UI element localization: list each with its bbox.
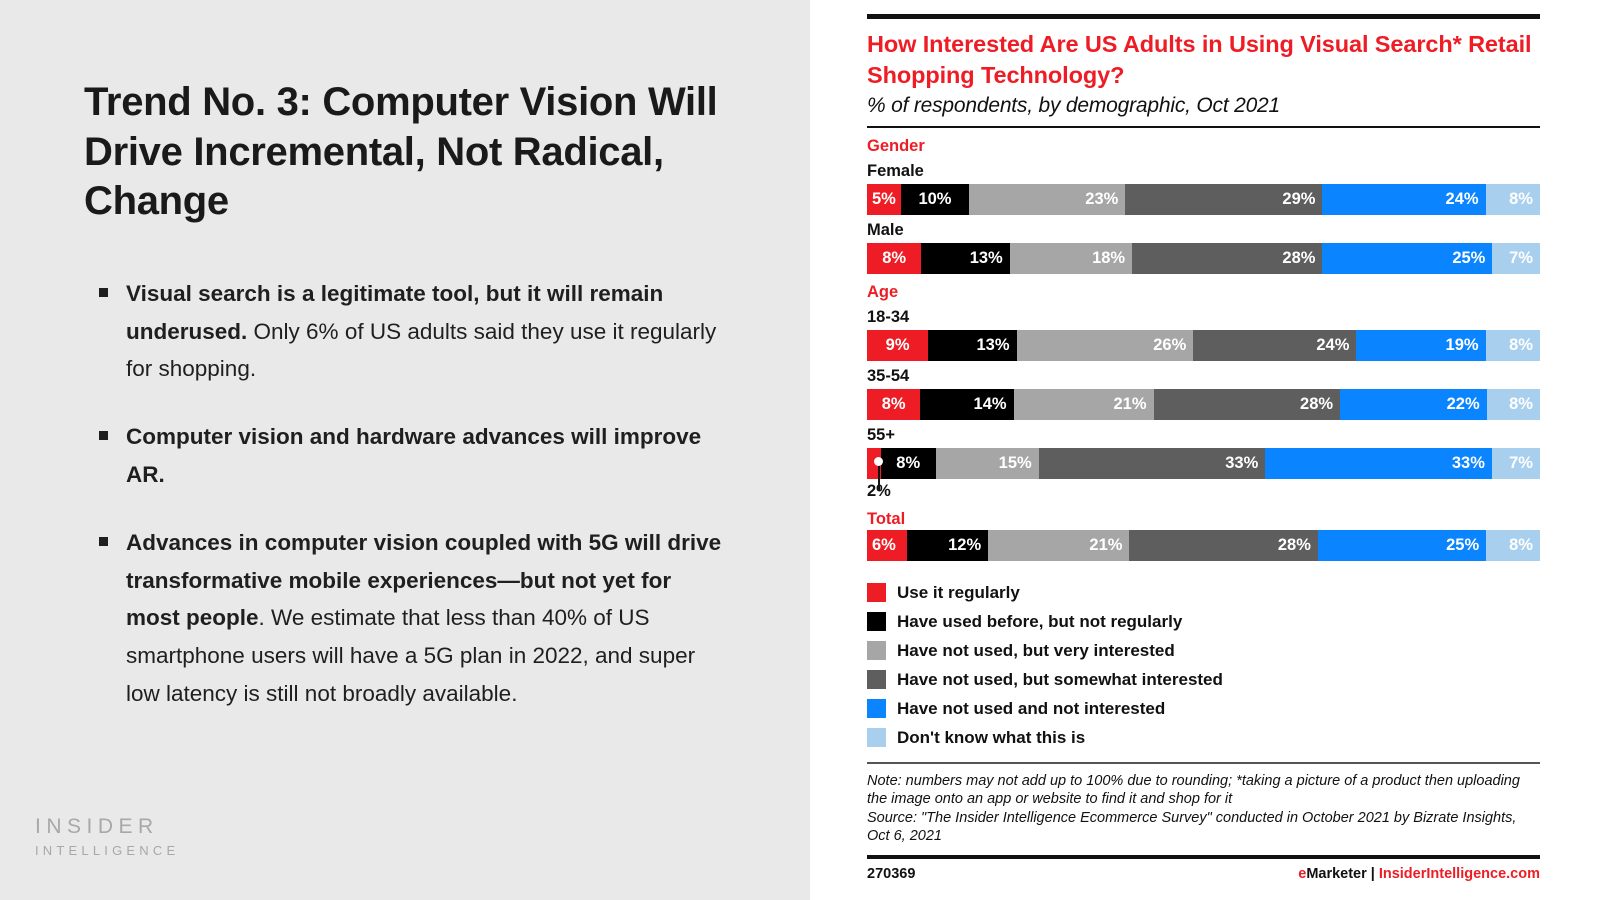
bar-segment: 5% xyxy=(867,184,901,215)
bar-segment: 6% xyxy=(867,530,907,561)
legend-color-swatch xyxy=(867,670,886,689)
legend-item[interactable]: Have not used and not interested xyxy=(867,694,1540,723)
bar-segment: 15% xyxy=(936,448,1039,479)
bar-segment-value: 28% xyxy=(1278,536,1311,555)
legend-item[interactable]: Use it regularly xyxy=(867,578,1540,607)
bar-row-wrapper: 6%12%21%28%25%8% xyxy=(867,530,1540,561)
bar-segment: 21% xyxy=(988,530,1129,561)
bar-row-wrapper: 9%13%26%24%19%8% xyxy=(867,330,1540,361)
bullet-emphasis-text: Computer vision and hardware advances wi… xyxy=(126,424,701,487)
legend-color-swatch xyxy=(867,699,886,718)
bar-segment: 7% xyxy=(1492,243,1540,274)
chart-panel: How Interested Are US Adults in Using Vi… xyxy=(810,0,1600,900)
bar-segment-value: 24% xyxy=(1446,190,1479,209)
chart-notes: Note: numbers may not add up to 100% due… xyxy=(867,772,1540,846)
bar-segment: 26% xyxy=(1017,330,1194,361)
chart-category-label: 18-34 xyxy=(867,308,1540,327)
bar-segment: 8% xyxy=(1486,330,1540,361)
bar-segment-value: 9% xyxy=(886,336,910,355)
chart-footer: 270369 eMarketer|InsiderIntelligence.com xyxy=(867,866,1540,882)
bar-segment-value: 22% xyxy=(1447,395,1480,414)
bar-segment-value: 29% xyxy=(1282,190,1315,209)
bar-segment-value: 18% xyxy=(1092,249,1125,268)
legend-item[interactable]: Don't know what this is xyxy=(867,723,1540,752)
chart-top-rule xyxy=(867,14,1540,19)
bar-row-wrapper: 8%13%18%28%25%7% xyxy=(867,243,1540,274)
chart-category-label: Female xyxy=(867,162,1540,181)
bar-segment: 8% xyxy=(1486,184,1540,215)
chart-category-label: 35-54 xyxy=(867,367,1540,386)
note-text: Note: numbers may not add up to 100% due… xyxy=(867,773,1520,808)
bar-segment-value: 26% xyxy=(1153,336,1186,355)
bar-segment: 14% xyxy=(920,389,1013,420)
bullet-item: Advances in computer vision coupled with… xyxy=(126,524,724,713)
chart-header-rule xyxy=(867,126,1540,128)
chart-subtitle: % of respondents, by demographic, Oct 20… xyxy=(867,94,1540,118)
legend-label: Don't know what this is xyxy=(897,728,1085,748)
chart-category-label: Male xyxy=(867,221,1540,240)
bar-segment-value: 8% xyxy=(882,249,906,268)
brand-attribution: eMarketer|InsiderIntelligence.com xyxy=(1298,866,1540,882)
bar-segment-value: 8% xyxy=(1509,190,1533,209)
bar-segment-value: 12% xyxy=(948,536,981,555)
legend-color-swatch xyxy=(867,583,886,602)
chart-group-label: Total xyxy=(867,510,1540,529)
bar-segment-value: 19% xyxy=(1446,336,1479,355)
legend-item[interactable]: Have not used, but very interested xyxy=(867,636,1540,665)
legend-color-swatch xyxy=(867,728,886,747)
bar-segment: 9% xyxy=(867,330,928,361)
bullet-square-icon xyxy=(99,431,108,440)
page-title: Trend No. 3: Computer Vision Will Drive … xyxy=(84,78,730,227)
bar-segment: 33% xyxy=(1039,448,1266,479)
bar-segment-value: 33% xyxy=(1452,454,1485,473)
chart-bottom-rule xyxy=(867,855,1540,859)
bar-segment-value: 6% xyxy=(872,536,896,555)
bar-segment-value: 28% xyxy=(1300,395,1333,414)
brand-website-link[interactable]: InsiderIntelligence.com xyxy=(1379,866,1540,882)
bar-segment-value: 8% xyxy=(1509,395,1533,414)
left-content-panel: Trend No. 3: Computer Vision Will Drive … xyxy=(0,0,810,900)
legend-label: Have used before, but not regularly xyxy=(897,612,1182,632)
bar-row-wrapper: 2%8%15%33%33%7%2% xyxy=(867,448,1540,501)
bar-segment-value: 25% xyxy=(1446,536,1479,555)
bar-segment: 13% xyxy=(921,243,1009,274)
insider-intelligence-logo: INSIDER INTELLIGENCE xyxy=(35,815,179,858)
bullet-item: Computer vision and hardware advances wi… xyxy=(126,418,724,494)
bullet-square-icon xyxy=(99,537,108,546)
bar-segment: 29% xyxy=(1125,184,1322,215)
bar-segment: 12% xyxy=(907,530,988,561)
bar-segment: 33% xyxy=(1265,448,1492,479)
stacked-bar-row: 5%10%23%29%24%8% xyxy=(867,184,1540,215)
bar-segment: 25% xyxy=(1318,530,1486,561)
bar-segment-value: 28% xyxy=(1282,249,1315,268)
bar-segment-value: 13% xyxy=(970,249,1003,268)
bar-segment-value: 23% xyxy=(1085,190,1118,209)
bullet-item: Visual search is a legitimate tool, but … xyxy=(126,275,724,388)
bar-segment-value: 8% xyxy=(896,454,920,473)
notes-divider-rule xyxy=(867,762,1540,764)
bullet-square-icon xyxy=(99,288,108,297)
bar-segment: 8% xyxy=(881,448,936,479)
bar-segment: 8% xyxy=(867,243,921,274)
bar-segment: 28% xyxy=(1129,530,1317,561)
chart-group-label: Age xyxy=(867,283,1540,302)
chart-legend: Use it regularlyHave used before, but no… xyxy=(867,578,1540,752)
bar-segment: 25% xyxy=(1322,243,1492,274)
chart-category-label: 55+ xyxy=(867,426,1540,445)
bar-segment-value: 15% xyxy=(999,454,1032,473)
slide-root: Trend No. 3: Computer Vision Will Drive … xyxy=(0,0,1600,900)
stacked-bar-row: 2%8%15%33%33%7% xyxy=(867,448,1540,479)
stacked-bar-chart: GenderFemale5%10%23%29%24%8%Male8%13%18%… xyxy=(867,137,1540,561)
logo-primary-text: INSIDER xyxy=(35,815,179,838)
legend-label: Use it regularly xyxy=(897,583,1020,603)
bar-segment-value: 10% xyxy=(918,190,951,209)
stacked-bar-row: 6%12%21%28%25%8% xyxy=(867,530,1540,561)
bar-segment-value: 8% xyxy=(882,395,906,414)
bar-segment-value: 21% xyxy=(1113,395,1146,414)
chart-id: 270369 xyxy=(867,866,915,882)
bullet-list: Visual search is a legitimate tool, but … xyxy=(84,275,724,713)
source-text: Source: "The Insider Intelligence Ecomme… xyxy=(867,809,1540,846)
bar-segment: 22% xyxy=(1340,389,1487,420)
bar-row-wrapper: 5%10%23%29%24%8% xyxy=(867,184,1540,215)
legend-label: Have not used, but somewhat interested xyxy=(897,670,1223,690)
bar-segment: 28% xyxy=(1154,389,1341,420)
legend-item[interactable]: Have used before, but not regularly xyxy=(867,607,1540,636)
bar-segment: 7% xyxy=(1492,448,1540,479)
bar-segment-value: 33% xyxy=(1225,454,1258,473)
stacked-bar-row: 9%13%26%24%19%8% xyxy=(867,330,1540,361)
bar-segment: 13% xyxy=(928,330,1016,361)
bar-segment-value: 13% xyxy=(977,336,1010,355)
bar-segment-value: 14% xyxy=(974,395,1007,414)
logo-secondary-text: INTELLIGENCE xyxy=(35,843,179,858)
bar-row-wrapper: 8%14%21%28%22%8% xyxy=(867,389,1540,420)
bar-segment: 19% xyxy=(1356,330,1485,361)
bar-segment-value: 8% xyxy=(1509,536,1533,555)
bar-segment: 18% xyxy=(1010,243,1132,274)
bar-segment-value: 21% xyxy=(1089,536,1122,555)
stacked-bar-row: 8%14%21%28%22%8% xyxy=(867,389,1540,420)
bar-segment-value: 25% xyxy=(1452,249,1485,268)
callout-value-label: 2% xyxy=(867,482,1540,501)
legend-label: Have not used, but very interested xyxy=(897,641,1175,661)
bar-segment: 21% xyxy=(1014,389,1154,420)
bar-segment: 24% xyxy=(1193,330,1356,361)
legend-color-swatch xyxy=(867,612,886,631)
brand-separator: | xyxy=(1367,866,1379,882)
bar-segment: 28% xyxy=(1132,243,1322,274)
stacked-bar-row: 8%13%18%28%25%7% xyxy=(867,243,1540,274)
bar-segment-value: 5% xyxy=(872,190,896,209)
legend-label: Have not used and not interested xyxy=(897,699,1165,719)
bar-segment: 23% xyxy=(969,184,1125,215)
bar-segment: 10% xyxy=(901,184,969,215)
bar-segment-value: 8% xyxy=(1509,336,1533,355)
bar-segment: 24% xyxy=(1322,184,1485,215)
bar-segment: 8% xyxy=(867,389,920,420)
bar-segment-value: 24% xyxy=(1316,336,1349,355)
bar-segment: 8% xyxy=(1486,530,1540,561)
bar-segment: 8% xyxy=(1487,389,1540,420)
legend-color-swatch xyxy=(867,641,886,660)
chart-group-label: Gender xyxy=(867,137,1540,156)
legend-item[interactable]: Have not used, but somewhat interested xyxy=(867,665,1540,694)
brand-marketer: Marketer xyxy=(1306,866,1366,882)
bar-segment-value: 7% xyxy=(1509,454,1533,473)
chart-title: How Interested Are US Adults in Using Vi… xyxy=(867,29,1540,90)
bar-segment-value: 7% xyxy=(1509,249,1533,268)
